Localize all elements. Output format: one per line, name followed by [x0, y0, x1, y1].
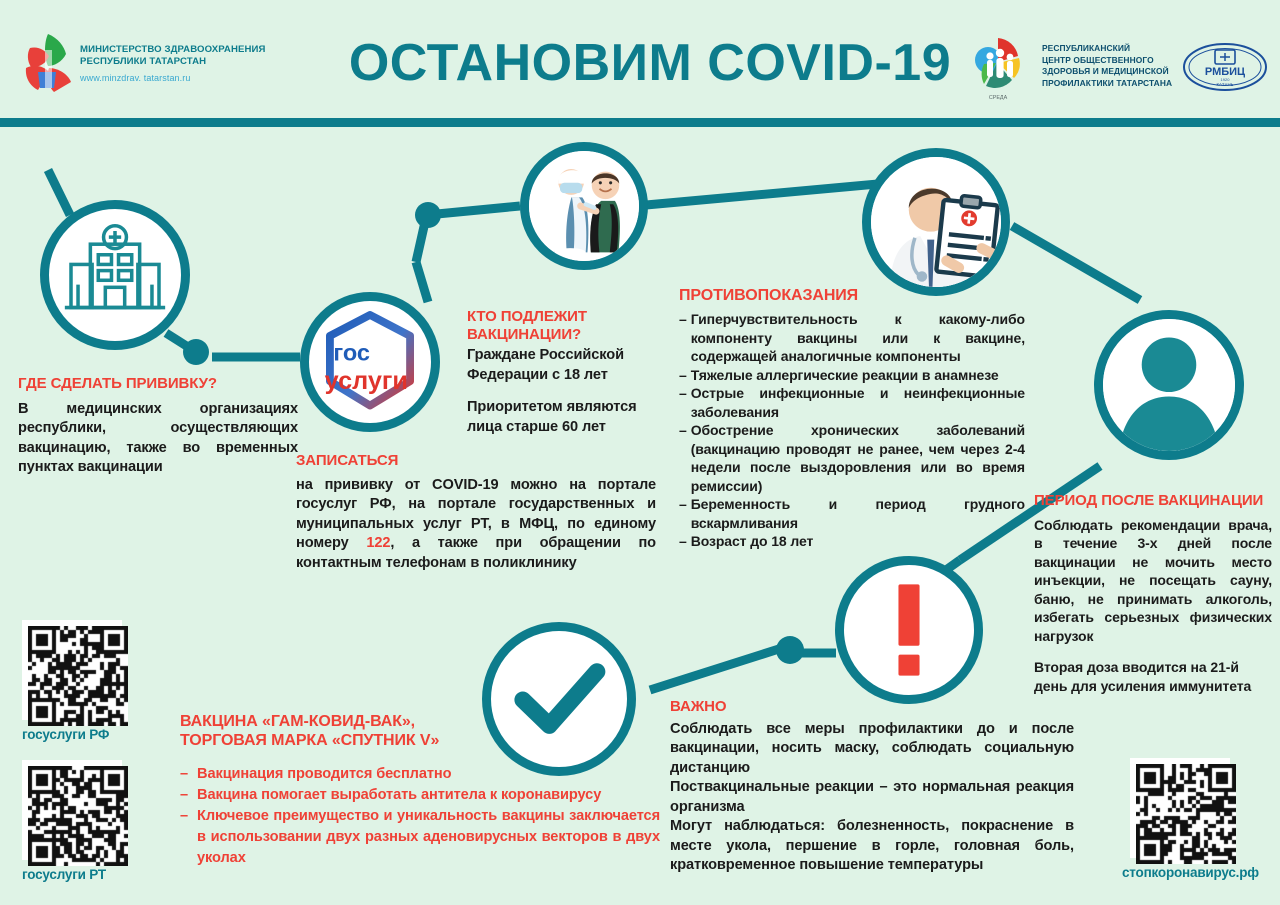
qr-gosuslugi-rf[interactable]: госуслуги РФ [22, 620, 122, 742]
vaccination-icon [520, 142, 648, 270]
after-heading: ПЕРИОД ПОСЛЕ ВАКЦИНАЦИИ [1034, 492, 1272, 510]
dash-marker: – [679, 366, 687, 385]
svg-text:КАЗАНЬ: КАЗАНЬ [1216, 82, 1233, 87]
important-heading: ВАЖНО [670, 698, 1074, 716]
qr-caption: стопкоронавирус.рф [1122, 865, 1259, 880]
minzdrav-logo-text: МИНИСТЕРСТВО ЗДРАВООХРАНЕНИЯ РЕСПУБЛИКИ … [80, 44, 280, 83]
after-body2: Вторая доза вводится на 21-й день для ус… [1034, 658, 1272, 695]
section-vaccine: ВАКЦИНА «ГАМ-КОВИД-ВАК», ТОРГОВАЯ МАРКА … [180, 712, 660, 869]
contra-heading: ПРОТИВОПОКАЗАНИЯ [679, 286, 1025, 305]
rmbic-logo-icon: РМБИЦ 1920 КАЗАНЬ [1182, 42, 1268, 92]
svg-text:СРЕДА: СРЕДА [989, 95, 1008, 101]
hospital-icon [40, 200, 190, 350]
gosuslugi-line1: гос [333, 339, 370, 365]
list-item-text: Острые инфекционные и неинфекционные заб… [691, 384, 1025, 421]
poster-canvas: МИНИСТЕРСТВО ЗДРАВООХРАНЕНИЯ РЕСПУБЛИКИ … [0, 0, 1280, 905]
page-title: ОСТАНОВИМ COVID-19 [340, 32, 960, 94]
dash-marker: – [679, 384, 687, 421]
vaccine-list: –Вакцинация проводится бесплатно–Вакцина… [180, 764, 660, 869]
section-after-vaccination: ПЕРИОД ПОСЛЕ ВАКЦИНАЦИИ Соблюдать рекоме… [1034, 492, 1272, 695]
where-heading: ГДЕ СДЕЛАТЬ ПРИВИВКУ? [18, 375, 298, 393]
dash-marker: – [180, 806, 188, 869]
minzdrav-url: www.minzdrav. tatarstan.ru [80, 73, 280, 83]
dash-marker: – [180, 785, 188, 806]
section-contraindications: ПРОТИВОПОКАЗАНИЯ –Гиперчувствительность … [679, 286, 1025, 551]
list-item-text: Беременность и период грудного вскармлив… [691, 495, 1025, 532]
dash-marker: – [679, 532, 687, 551]
exclamation-icon [835, 556, 983, 704]
list-item-text: Гиперчувствительность к какому-либо комп… [691, 310, 1025, 366]
list-item-text: Тяжелые аллергические реакции в анамнезе [691, 366, 1025, 385]
qr-caption: госуслуги РТ [22, 867, 122, 882]
header-divider [0, 118, 1280, 127]
gosuslugi-logo: гос услуги [300, 292, 440, 432]
list-item-text: Вакцинация проводится бесплатно [197, 764, 660, 785]
list-item-text: Ключевое преимущество и уникальность вак… [197, 806, 660, 869]
important-p3: Могут наблюдаться: болезненность, покрас… [670, 817, 1074, 876]
section-who-eligible: КТО ПОДЛЕЖИТ ВАКЦИНАЦИИ? Граждане Россий… [467, 308, 667, 437]
list-item: –Ключевое преимущество и уникальность ва… [180, 806, 660, 869]
dash-marker: – [679, 421, 687, 495]
section-where-to-vaccinate: ГДЕ СДЕЛАТЬ ПРИВИВКУ? В медицинских орга… [18, 375, 298, 478]
signup-heading: ЗАПИСАТЬСЯ [296, 452, 656, 470]
list-item: –Гиперчувствительность к какому-либо ком… [679, 310, 1025, 366]
qr-image [1136, 764, 1236, 864]
list-item: –Беременность и период грудного вскармли… [679, 495, 1025, 532]
qr-stopkoronavirus[interactable]: стопкоронавирус.рф [1130, 758, 1259, 880]
important-p1: Соблюдать все меры профилактики до и пос… [670, 720, 1074, 779]
rcoz-line4: ПРОФИЛАКТИКИ ТАТАРСТАНА [1042, 78, 1202, 90]
wire-node-1 [183, 339, 209, 365]
where-body: В медицинских организациях республики, о… [18, 400, 298, 478]
minzdrav-line2: РЕСПУБЛИКИ ТАТАРСТАН [80, 56, 280, 68]
vaccine-heading-line1: ВАКЦИНА «ГАМ-КОВИД-ВАК», [180, 712, 660, 731]
signup-body: на прививку от COVID-19 можно на портале… [296, 476, 656, 574]
list-item-text: Вакцина помогает выработать антитела к к… [197, 785, 660, 806]
doctor-clipboard-icon [862, 148, 1010, 296]
wire-node-2 [415, 202, 441, 228]
vaccine-heading-line2: ТОРГОВАЯ МАРКА «СПУТНИК V» [180, 731, 660, 750]
list-item-text: Возраст до 18 лет [691, 532, 1025, 551]
list-item: –Вакцина помогает выработать антитела к … [180, 785, 660, 806]
dash-marker: – [679, 310, 687, 366]
dash-marker: – [180, 764, 188, 785]
list-item-text: Обострение хронических заболеваний (вакц… [691, 421, 1025, 495]
list-item: –Вакцинация проводится бесплатно [180, 764, 660, 785]
section-signup: ЗАПИСАТЬСЯ на прививку от COVID-19 можно… [296, 452, 656, 573]
person-silhouette-icon [1094, 310, 1244, 460]
who-body2: Приоритетом являются лица старше 60 лет [467, 398, 667, 437]
who-heading-line2: ВАКЦИНАЦИИ? [467, 326, 667, 344]
qr-caption: госуслуги РФ [22, 727, 122, 742]
list-item: –Возраст до 18 лет [679, 532, 1025, 551]
section-important: ВАЖНО Соблюдать все меры профилактики до… [670, 698, 1074, 876]
important-p2: Поствакцинальные реакции – это нормальна… [670, 778, 1074, 817]
poster-header: МИНИСТЕРСТВО ЗДРАВООХРАНЕНИЯ РЕСПУБЛИКИ … [0, 0, 1280, 118]
dash-marker: – [679, 495, 687, 532]
list-item: –Тяжелые аллергические реакции в анамнез… [679, 366, 1025, 385]
qr-image [28, 626, 128, 726]
rcoz-logo-text: РЕСПУБЛИКАНСКИЙ ЦЕНТР ОБЩЕСТВЕННОГО ЗДОР… [1042, 43, 1202, 89]
wire-node-3 [776, 636, 804, 664]
qr-image [28, 766, 128, 866]
rcoz-line1: РЕСПУБЛИКАНСКИЙ [1042, 43, 1202, 55]
list-item: –Обострение хронических заболеваний (вак… [679, 421, 1025, 495]
minzdrav-line1: МИНИСТЕРСТВО ЗДРАВООХРАНЕНИЯ [80, 44, 280, 56]
after-body: Соблюдать рекомендации врача, в течение … [1034, 516, 1272, 646]
contra-list: –Гиперчувствительность к какому-либо ком… [679, 310, 1025, 551]
list-item: –Острые инфекционные и неинфекционные за… [679, 384, 1025, 421]
signup-phone: 122 [366, 535, 390, 551]
rcoz-line3: ЗДОРОВЬЯ И МЕДИЦИНСКОЙ [1042, 66, 1202, 78]
gosuslugi-line2: услуги [325, 367, 408, 395]
qr-gosuslugi-rt[interactable]: госуслуги РТ [22, 760, 122, 882]
minzdrav-logo-icon [18, 32, 76, 94]
who-heading-line1: КТО ПОДЛЕЖИТ [467, 308, 667, 326]
rcoz-line2: ЦЕНТР ОБЩЕСТВЕННОГО [1042, 55, 1202, 67]
who-body: Граждане Российской Федерации с 18 лет [467, 346, 667, 385]
rcoz-emblem-icon: СРЕДА [962, 30, 1034, 102]
